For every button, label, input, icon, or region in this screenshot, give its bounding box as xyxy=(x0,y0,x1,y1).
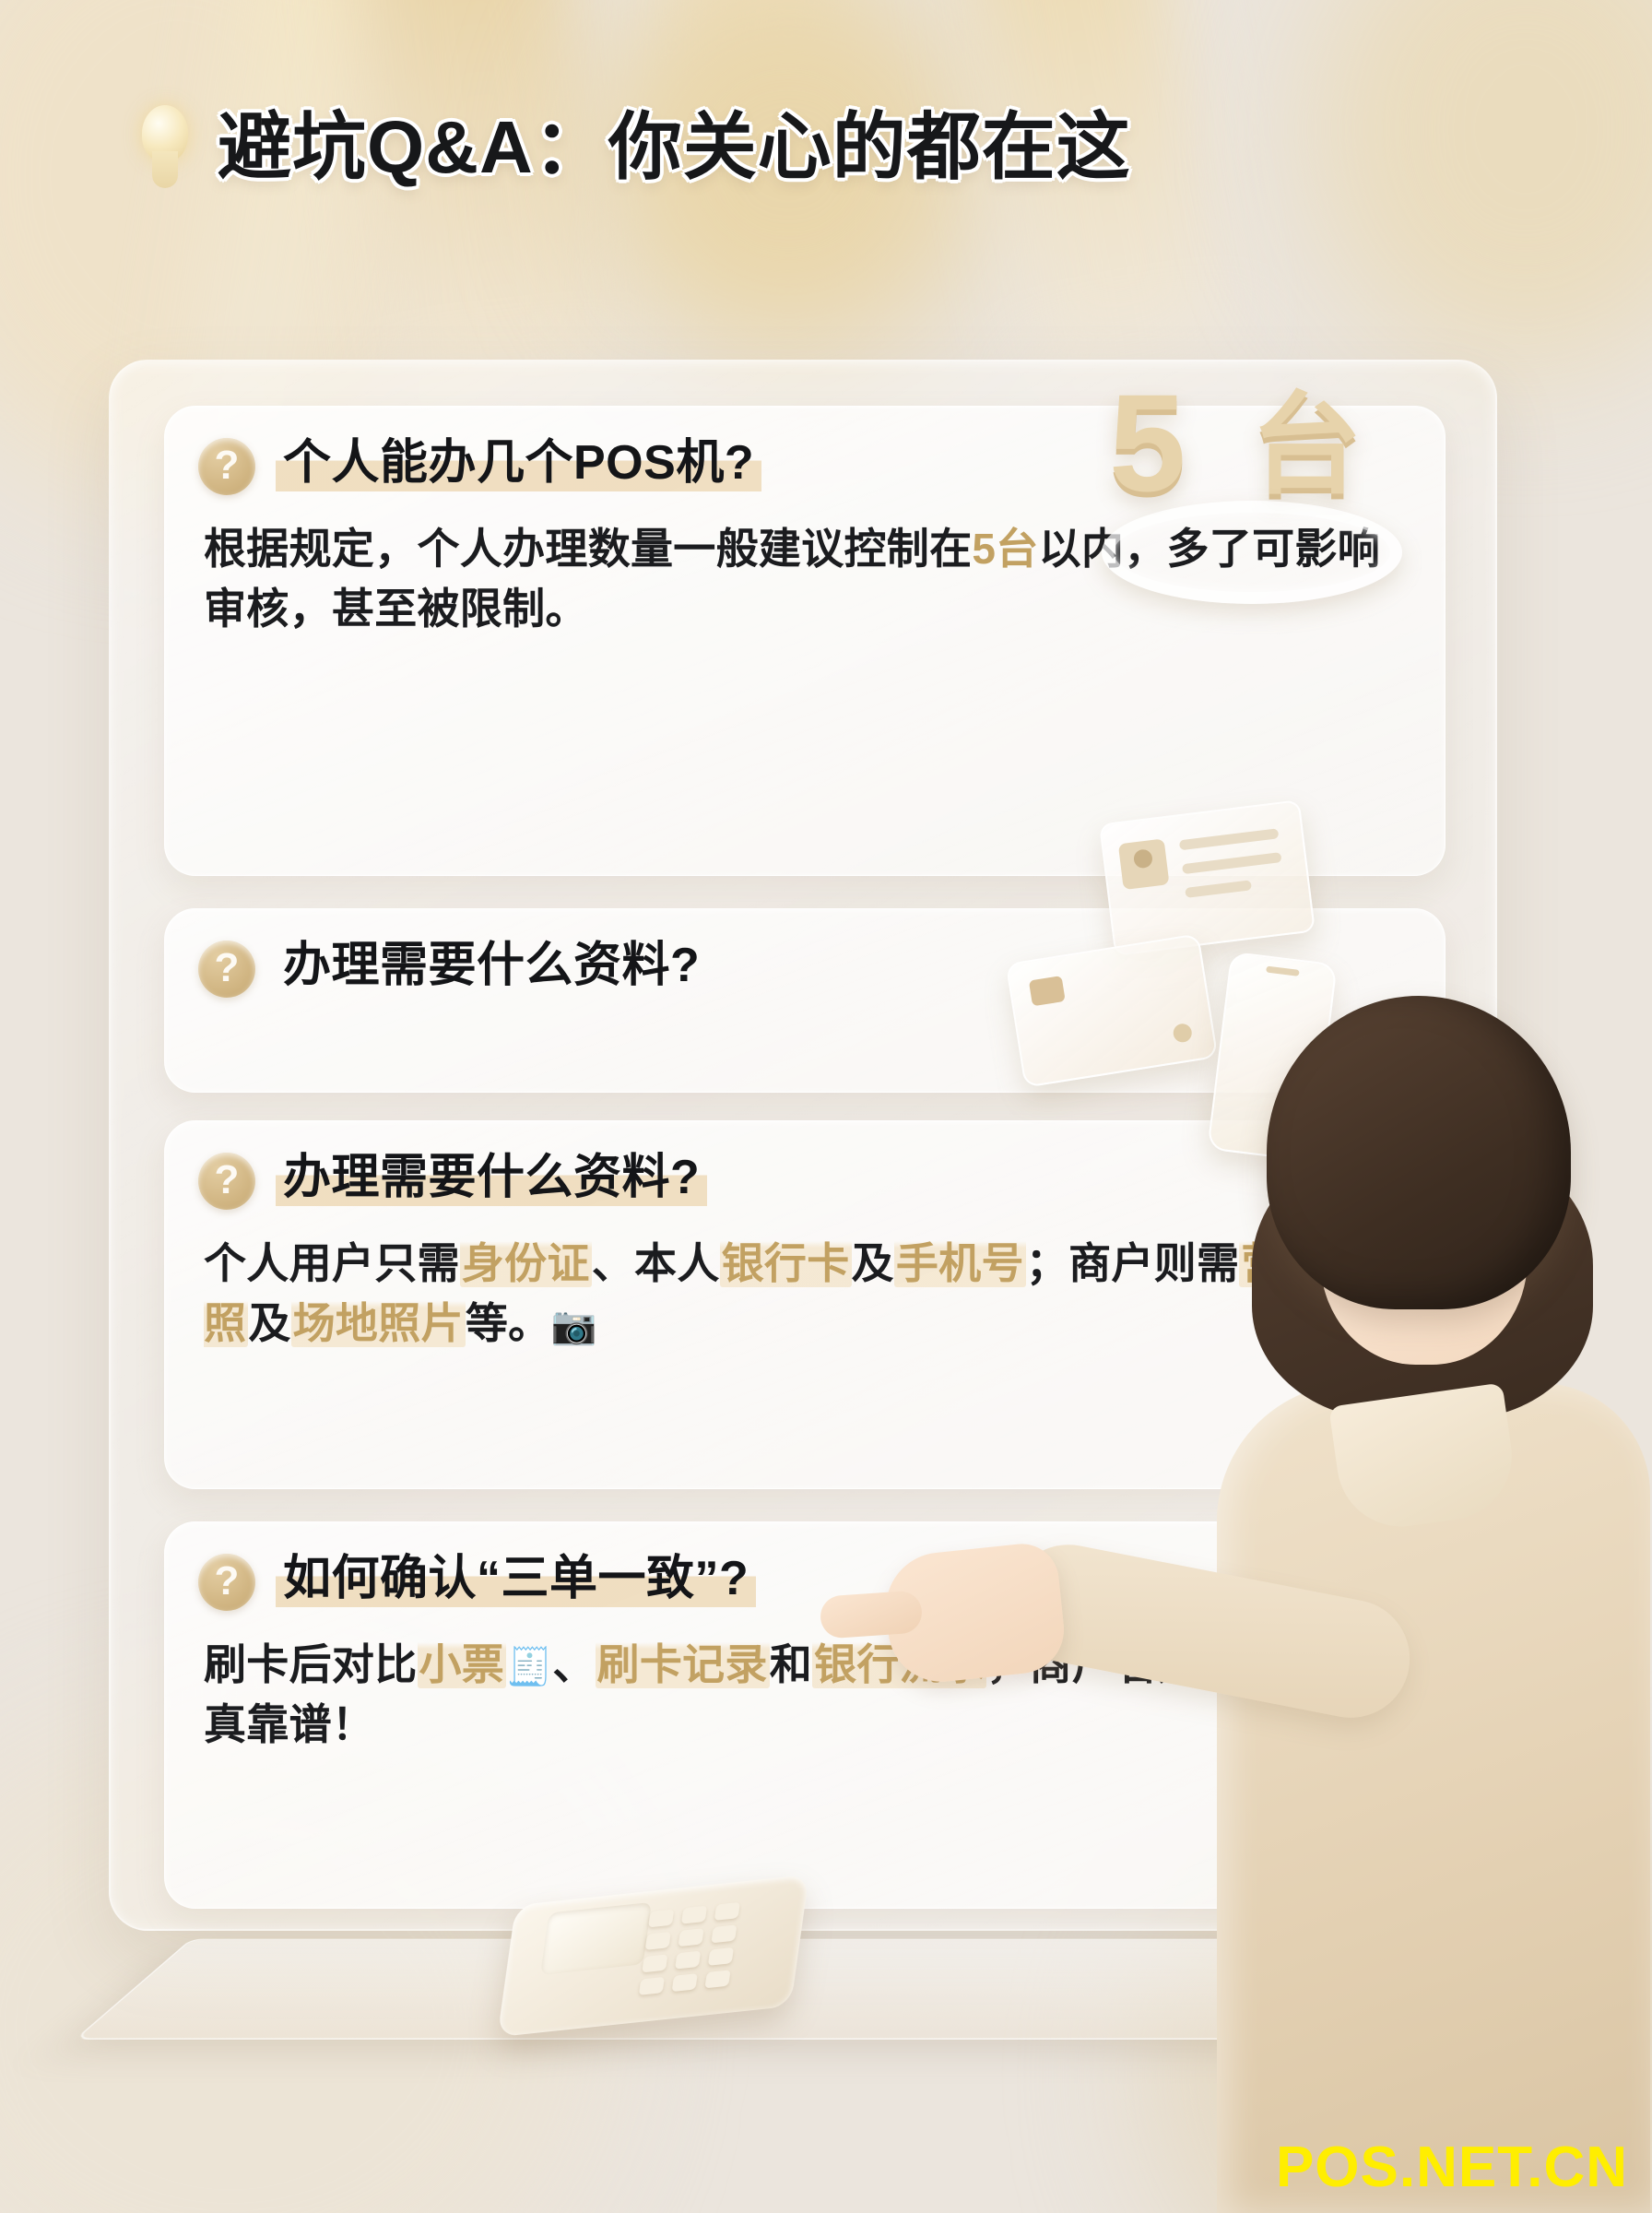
five-units-prop: 5 台 xyxy=(1092,383,1397,595)
five-units-word: 台 xyxy=(1251,390,1362,501)
question-text: 如何确认“三单一致”? xyxy=(276,1550,756,1607)
answer-run-4: 及 xyxy=(852,1239,894,1287)
question-text: 办理需要什么资料? xyxy=(276,937,707,994)
answer-run-10: 场地照片 xyxy=(291,1299,466,1347)
answer-run-0: 刷卡后对比 xyxy=(204,1640,418,1688)
site-watermark: POS.NET.CN xyxy=(1276,2135,1628,2200)
pos-terminal-prop xyxy=(497,1847,827,2053)
answer-run-0: 个人用户只需 xyxy=(204,1239,460,1287)
ring-decor xyxy=(1102,501,1402,604)
answer-run-2: 🧾 xyxy=(506,1647,552,1687)
answer-run-12: 📷 xyxy=(550,1306,596,1346)
woman-pointing-finger xyxy=(820,1590,924,1639)
answer-run-6: ； xyxy=(1026,1239,1068,1287)
answer-run-9: 及 xyxy=(248,1299,290,1347)
page-title: 避坑Q&A：你关心的都在这 xyxy=(218,111,1131,184)
answer-run-5: 和 xyxy=(770,1640,812,1688)
id-card-icon xyxy=(1099,799,1316,956)
question-text: 办理需要什么资料? xyxy=(276,1149,707,1206)
page-header: 避坑Q&A：你关心的都在这 xyxy=(0,97,1652,198)
woman-figure-illustration xyxy=(1163,996,1652,2213)
answer-run-5: 手机号 xyxy=(894,1239,1026,1287)
answer-run-3: 银行卡 xyxy=(720,1239,852,1287)
woman-hair xyxy=(1267,996,1571,1309)
answer-run-1: 5台 xyxy=(972,525,1038,573)
answer-run-1: 身份证 xyxy=(460,1239,592,1287)
lightbulb-icon xyxy=(136,103,194,192)
answer-run-3: 、 xyxy=(552,1640,595,1688)
question-text: 个人能办几个POS机? xyxy=(276,434,761,491)
question-badge-icon: ? xyxy=(198,1554,255,1611)
answer-run-0: 根据规定，个人办理数量一般建议控制在 xyxy=(204,525,972,573)
question-badge-icon: ? xyxy=(198,1153,255,1210)
answer-run-11: 等。 xyxy=(466,1299,551,1347)
answer-run-2: 、本人 xyxy=(592,1239,720,1287)
answer-run-1: 小票 xyxy=(418,1640,507,1688)
question-badge-icon: ? xyxy=(198,941,255,998)
five-units-number: 5 xyxy=(1109,373,1186,512)
answer-run-4: 刷卡记录 xyxy=(596,1640,770,1688)
question-badge-icon: ? xyxy=(198,438,255,495)
